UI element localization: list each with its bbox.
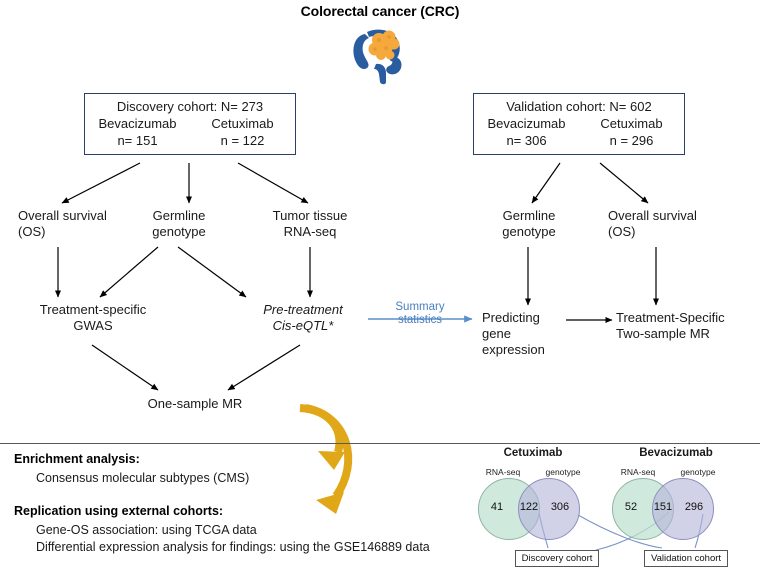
node-one-sample-mr: One-sample MR bbox=[118, 396, 272, 412]
node-two-sample-mr: Treatment-SpecificTwo-sample MR bbox=[616, 310, 725, 342]
validation-arm2-n: n = 296 bbox=[579, 132, 684, 149]
enrichment-analysis-heading: Enrichment analysis: bbox=[14, 452, 140, 466]
discovery-arm1-n: n= 151 bbox=[85, 132, 190, 149]
gold-arrowheads bbox=[316, 451, 345, 514]
summary-statistics-label: Summary statistics bbox=[370, 301, 470, 327]
venn-right-label-genotype: genotype bbox=[670, 467, 726, 477]
validation-arm1-n: n= 306 bbox=[474, 132, 579, 149]
summary-statistics-line2: statistics bbox=[370, 314, 470, 327]
venn-right-drug-title: Bevacizumab bbox=[612, 447, 740, 459]
validation-arm1-name: Bevacizumab bbox=[474, 115, 579, 132]
summary-statistics-line1: Summary bbox=[370, 301, 470, 314]
section-divider bbox=[0, 443, 760, 444]
venn-left-label-rnaseq: RNA-seq bbox=[478, 467, 528, 477]
validation-branch-arrows bbox=[532, 163, 648, 203]
node-tumor-rnaseq: Tumor tissueRNA-seq bbox=[258, 208, 362, 240]
discovery-cohort-box: Discovery cohort: N= 273 Bevacizumab Cet… bbox=[84, 93, 296, 155]
discovery-arm2-name: Cetuximab bbox=[190, 115, 295, 132]
replication-heading: Replication using external cohorts: bbox=[14, 504, 223, 518]
validation-cohort-box: Validation cohort: N= 602 Bevacizumab Ce… bbox=[473, 93, 685, 155]
venn-left: 41 122 306 bbox=[470, 478, 600, 540]
validation-arm2-name: Cetuximab bbox=[579, 115, 684, 132]
replication-item-1: Gene-OS association: using TCGA data bbox=[36, 522, 257, 538]
to-one-sample-mr-arrows bbox=[92, 345, 300, 390]
discovery-arm1-name: Bevacizumab bbox=[85, 115, 190, 132]
node-germline-genotype-left: Germlinegenotype bbox=[132, 208, 226, 240]
enrichment-analysis-item: Consensus molecular subtypes (CMS) bbox=[36, 470, 249, 486]
colon-tumor-icon bbox=[345, 24, 415, 86]
left-mid-arrows bbox=[58, 247, 310, 297]
validation-arm-counts: n= 306 n = 296 bbox=[474, 132, 684, 149]
node-predicting-gene-expression: Predictinggeneexpression bbox=[482, 310, 545, 358]
venn-right-count-overlap: 151 bbox=[650, 501, 676, 513]
node-germline-genotype-right: Germlinegenotype bbox=[482, 208, 576, 240]
discovery-arm2-n: n = 122 bbox=[190, 132, 295, 149]
discovery-arm-counts: n= 151 n = 122 bbox=[85, 132, 295, 149]
venn-left-count-overlap: 122 bbox=[516, 501, 542, 513]
venn-tag-validation-cohort: Validation cohort bbox=[644, 550, 728, 567]
node-overall-survival-right: Overall survival(OS) bbox=[608, 208, 697, 240]
page-title: Colorectal cancer (CRC) bbox=[0, 3, 760, 19]
discovery-branch-arrows bbox=[62, 163, 308, 203]
venn-left-drug-title: Cetuximab bbox=[473, 447, 593, 459]
venn-left-count-rnaseq-only: 41 bbox=[484, 501, 510, 513]
venn-right: 52 151 296 bbox=[604, 478, 736, 540]
validation-arm-names: Bevacizumab Cetuximab bbox=[474, 115, 684, 132]
venn-right-count-rnaseq-only: 52 bbox=[618, 501, 644, 513]
discovery-cohort-header: Discovery cohort: N= 273 bbox=[117, 98, 263, 115]
gold-curved-arrows bbox=[300, 408, 348, 496]
node-pre-treatment-cis-eqtl: Pre-treatmentCis-eQTL* bbox=[240, 302, 366, 334]
validation-cohort-header: Validation cohort: N= 602 bbox=[506, 98, 651, 115]
discovery-arm-names: Bevacizumab Cetuximab bbox=[85, 115, 295, 132]
replication-item-2: Differential expression analysis for fin… bbox=[36, 539, 430, 555]
node-overall-survival-left: Overall survival(OS) bbox=[18, 208, 107, 240]
venn-left-count-genotype-only: 306 bbox=[546, 501, 574, 513]
venn-right-count-genotype-only: 296 bbox=[680, 501, 708, 513]
diagram-canvas: Colorectal cancer (CRC) bbox=[0, 0, 760, 577]
venn-right-label-rnaseq: RNA-seq bbox=[612, 467, 664, 477]
venn-left-label-genotype: genotype bbox=[535, 467, 591, 477]
node-treatment-specific-gwas: Treatment-specificGWAS bbox=[18, 302, 168, 334]
venn-tag-discovery-cohort: Discovery cohort bbox=[515, 550, 599, 567]
